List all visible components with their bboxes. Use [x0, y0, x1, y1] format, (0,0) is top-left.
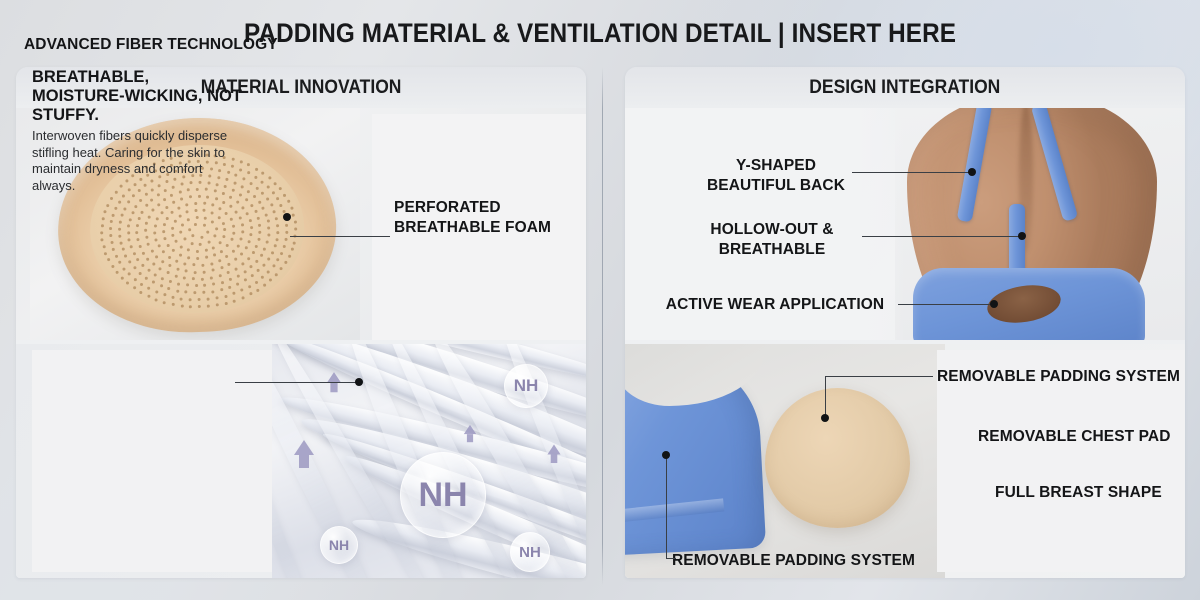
leader-dot-pad-top — [821, 414, 829, 422]
leader-line-hollow-out — [862, 236, 1022, 237]
model-back-photo — [895, 108, 1185, 340]
callout-y-shaped-beautiful-back: Y-SHAPED BEAUTIFUL BACK — [692, 156, 860, 195]
fiber-panel: NHNHNHNH — [16, 344, 586, 578]
nh-bubble: NH — [320, 526, 358, 564]
fiber-body-text: Interwoven fibers quickly disperse stifl… — [32, 128, 242, 195]
leader-dot-y-shaped — [968, 168, 976, 176]
fiber-subheading: BREATHABLE, MOISTURE-WICKING, NOT STUFFY… — [32, 68, 250, 125]
callout-removable-padding-system-top: REMOVABLE PADDING SYSTEM — [937, 367, 1180, 387]
callout-hollow-out-breathable: HOLLOW-OUT & BREATHABLE — [686, 220, 858, 259]
leader-dot-foam — [283, 213, 291, 221]
leader-dot-hollow-out — [1018, 232, 1026, 240]
removable-chest-pad — [765, 388, 910, 528]
nh-bubble: NH — [510, 532, 550, 572]
right-card-header: DESIGN INTEGRATION — [625, 67, 1185, 108]
airflow-arrow-icon — [294, 440, 314, 455]
nh-bubble: NH — [400, 452, 486, 538]
callout-active-wear-application: ACTIVE WEAR APPLICATION — [659, 295, 891, 315]
nh-bubble: NH — [504, 364, 548, 408]
leader-line-pad-bottom-horizontal — [666, 558, 676, 559]
column-divider — [602, 67, 603, 585]
callout-advanced-fiber-technology: ADVANCED FIBER TECHNOLOGY — [24, 36, 278, 54]
leader-line-pad-top-horizontal — [825, 376, 933, 377]
callout-perforated-breathable-foam: PERFORATED BREATHABLE FOAM — [394, 198, 551, 237]
crop-top-and-pad-photo — [625, 344, 945, 578]
fiber-weave-photo: NHNHNHNH — [272, 344, 586, 578]
fiber-text-plate — [32, 350, 272, 572]
leader-dot-fiber — [355, 378, 363, 386]
callout-removable-chest-pad: REMOVABLE CHEST PAD — [978, 427, 1171, 447]
callout-full-breast-shape: FULL BREAST SHAPE — [995, 483, 1162, 503]
leader-dot-pad-bottom — [662, 451, 670, 459]
leader-line-active-wear — [898, 304, 994, 305]
leader-line-fiber — [235, 382, 360, 383]
leader-line-pad-top-vertical — [825, 376, 826, 418]
right-card-header-label: DESIGN INTEGRATION — [809, 77, 1000, 99]
airflow-arrow-icon — [464, 425, 476, 434]
leader-dot-active-wear — [990, 300, 998, 308]
leader-line-pad-bottom-vertical — [666, 455, 667, 559]
crop-top-hem — [625, 498, 724, 528]
callout-removable-padding-system-bottom: REMOVABLE PADDING SYSTEM — [672, 551, 915, 571]
airflow-arrow-icon — [547, 445, 560, 455]
leader-line-y-shaped — [852, 172, 972, 173]
infographic-canvas: PADDING MATERIAL & VENTILATION DETAIL | … — [0, 0, 1200, 600]
leader-line-foam — [290, 236, 390, 237]
